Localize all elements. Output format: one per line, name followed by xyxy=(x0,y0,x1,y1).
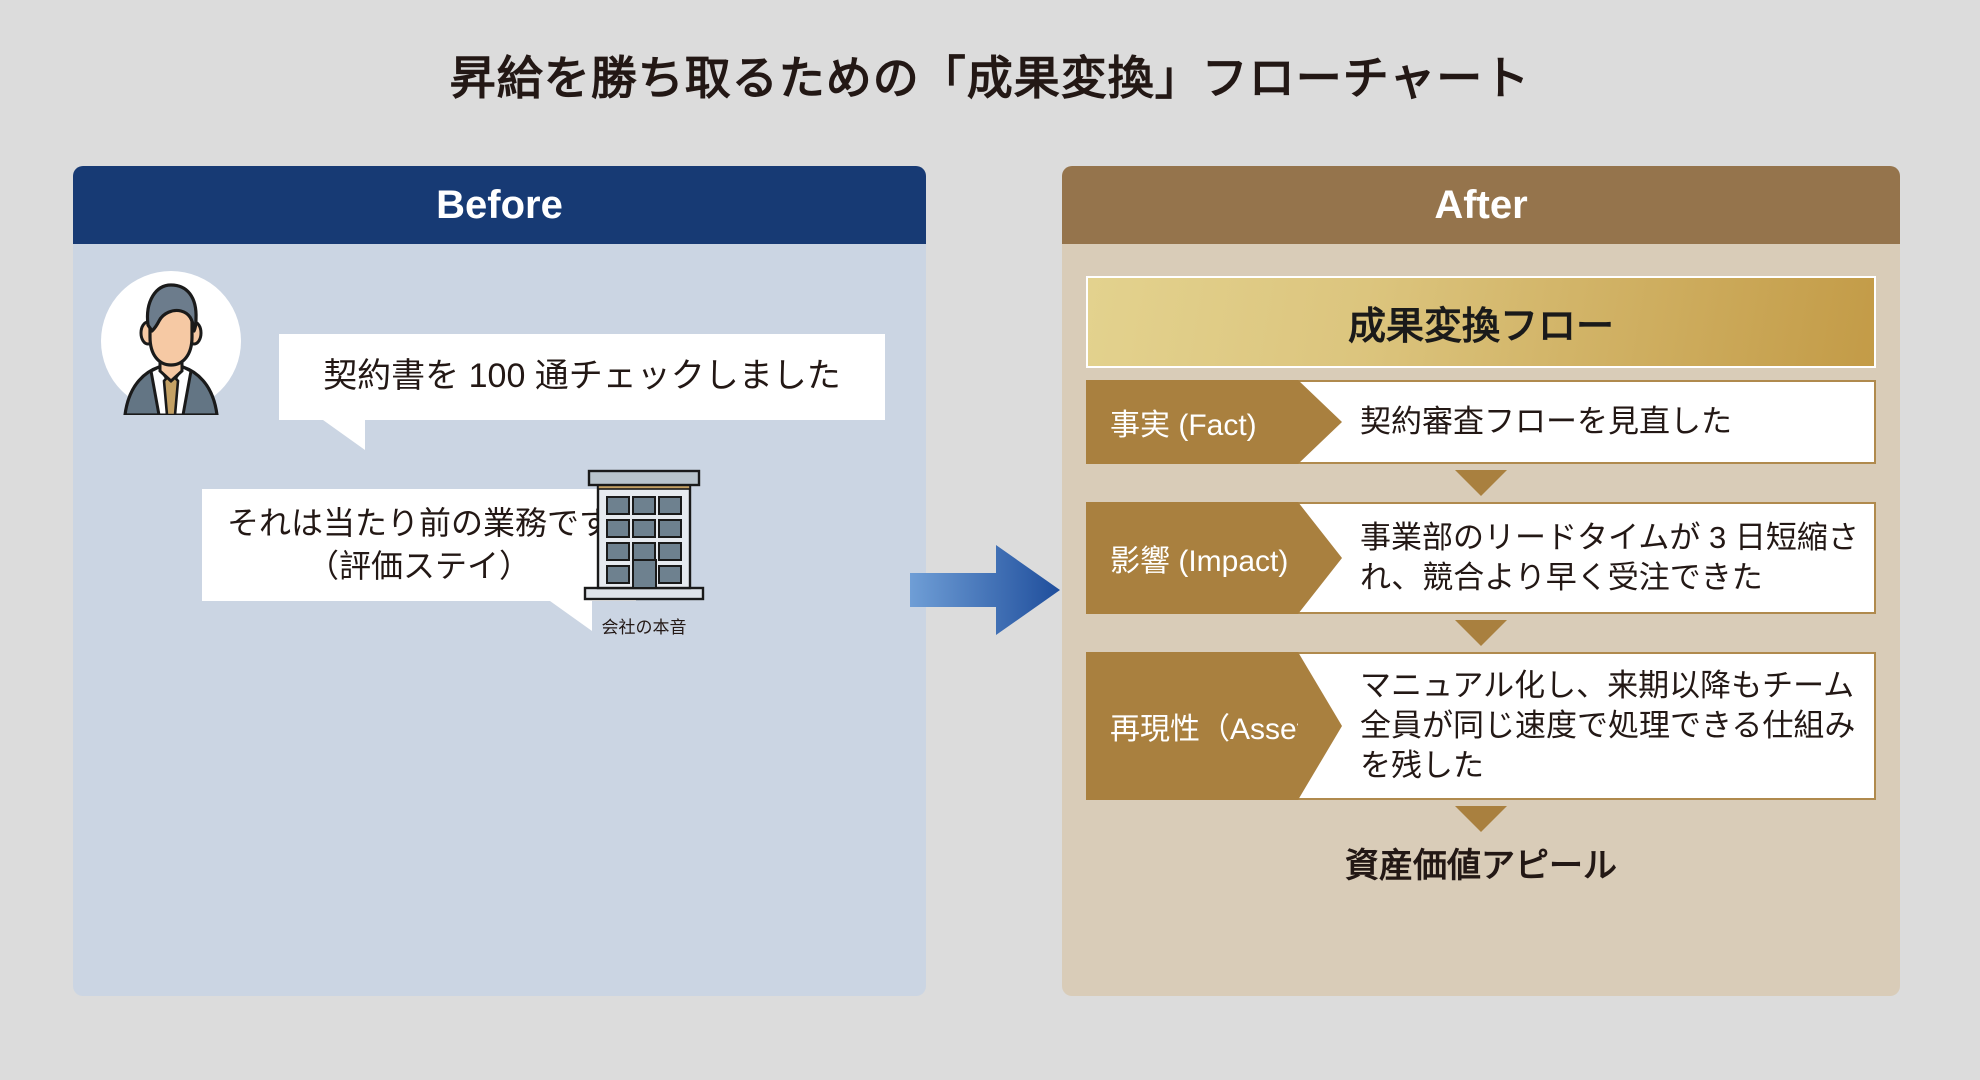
flow-down-arrow-icon xyxy=(1455,620,1507,646)
flow-row-impact-text: 事業部のリードタイムが 3 日短縮され、競合より早く受注できた xyxy=(1298,504,1874,612)
after-panel: After 成果変換フロー 事実 (Fact) 契約審査フローを見直した 影響 … xyxy=(1062,166,1900,996)
flow-row-fact-label: 事実 (Fact) xyxy=(1086,380,1298,464)
after-panel-header: After xyxy=(1062,166,1900,244)
before-panel-body: 契約書を 100 通チェックしました それは当たり前の業務です （評価ステイ） xyxy=(73,244,926,996)
flow-down-arrow-icon xyxy=(1455,806,1507,832)
flow-row-asset[interactable]: 再現性（Asset） マニュアル化し、来期以降もチーム全員が同じ速度で処理できる… xyxy=(1086,652,1876,800)
flow-title-box: 成果変換フロー xyxy=(1086,276,1876,368)
flow-row-impact-label: 影響 (Impact) xyxy=(1086,502,1298,614)
building-caption: 会社の本音 xyxy=(579,613,709,638)
flow-down-arrow-icon xyxy=(1455,470,1507,496)
office-building-icon xyxy=(579,464,709,604)
right-arrow-icon xyxy=(910,542,1060,638)
flow-row-asset-label: 再現性（Asset） xyxy=(1086,652,1298,800)
company-building-group: 会社の本音 xyxy=(579,464,709,634)
speech-bubble-company-text: それは当たり前の業務です （評価ステイ） xyxy=(227,502,611,588)
speech-bubble-company-line2: （評価ステイ） xyxy=(307,548,531,584)
flow-row-fact[interactable]: 事実 (Fact) 契約審査フローを見直した xyxy=(1086,380,1876,464)
flow-row-fact-text: 契約審査フローを見直した xyxy=(1298,382,1874,462)
outcome-conversion-flow: 成果変換フロー 事実 (Fact) 契約審査フローを見直した 影響 (Impac… xyxy=(1086,276,1876,887)
speech-bubble-tail xyxy=(323,420,365,450)
page-title: 昇給を勝ち取るための「成果変換」フローチャート xyxy=(0,42,1980,108)
speech-bubble-employee-text: 契約書を 100 通チェックしました xyxy=(323,354,841,400)
before-panel-header: Before xyxy=(73,166,926,244)
businessman-avatar-icon xyxy=(97,267,245,415)
flow-row-asset-text: マニュアル化し、来期以降もチーム全員が同じ速度で処理できる仕組みを残した xyxy=(1298,654,1874,798)
speech-bubble-company-line1: それは当たり前の業務です xyxy=(227,505,611,541)
speech-bubble-employee: 契約書を 100 通チェックしました xyxy=(279,334,885,420)
speech-bubble-company: それは当たり前の業務です （評価ステイ） xyxy=(202,489,636,601)
flow-footer-label: 資産価値アピール xyxy=(1086,838,1876,887)
before-panel: Before xyxy=(73,166,926,996)
after-panel-body: 成果変換フロー 事実 (Fact) 契約審査フローを見直した 影響 (Impac… xyxy=(1062,244,1900,996)
flow-row-impact[interactable]: 影響 (Impact) 事業部のリードタイムが 3 日短縮され、競合より早く受注… xyxy=(1086,502,1876,614)
